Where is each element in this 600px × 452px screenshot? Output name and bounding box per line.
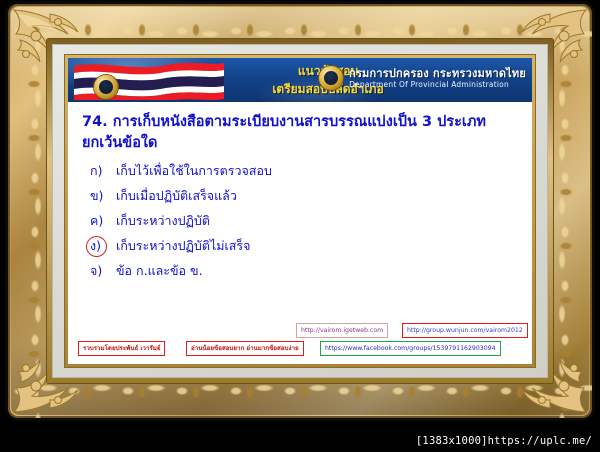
choice-key: จ) (82, 262, 116, 279)
org-name-english: Department Of Provincial Administration (349, 80, 526, 90)
website-link-box[interactable]: http://vairom.igetweb.com (296, 323, 388, 338)
choice-text: เก็บระหว่างปฏิบัติ (116, 212, 210, 229)
exam-slide: แนวข้อสอบ เตรียมสอบปลัดอำเภอ กรมการปกครอ… (68, 58, 532, 364)
choice-key: ค) (82, 212, 116, 229)
status-bar-text: [1383x1000]https://uplc.me/ (416, 435, 592, 447)
status-bar: [1383x1000]https://uplc.me/ (0, 430, 600, 452)
slide-banner: แนวข้อสอบ เตรียมสอบปลัดอำเภอ กรมการปกครอ… (68, 58, 532, 102)
group-link-box[interactable]: http://group.wunjun.com/vairom2012 (402, 323, 528, 338)
choice-key: ข) (82, 187, 116, 204)
choice-list: ก) เก็บไว้เพื่อใช้ในการตรวจสอบ ข) เก็บเม… (82, 162, 518, 279)
question-text: 74. การเก็บหนังสือตามระเบียบงานสารบรรณแบ… (82, 112, 518, 154)
choice-text: ข้อ ก.และข้อ ข. (116, 262, 203, 279)
choice-text: เก็บเมื่อปฏิบัติเสร็จแล้ว (116, 187, 237, 204)
facebook-link-box[interactable]: https://www.facebook.com/groups/15397911… (320, 341, 501, 356)
choice-item-cho[interactable]: จ) ข้อ ก.และข้อ ข. (82, 262, 518, 279)
choice-item-kho2[interactable]: ค) เก็บระหว่างปฏิบัติ (82, 212, 518, 229)
department-seal-icon (319, 66, 343, 90)
picture-frame: แนวข้อสอบ เตรียมสอบปลัดอำเภอ กรมการปกครอ… (8, 4, 592, 418)
choice-item-ka[interactable]: ก) เก็บไว้เพื่อใช้ในการตรวจสอบ (82, 162, 518, 179)
choice-key: ก) (82, 162, 116, 179)
choice-text: เก็บระหว่างปฏิบัติไม่เสร็จ (116, 237, 250, 254)
frame-ornament-left (22, 4, 48, 418)
question-body: 74. การเก็บหนังสือตามระเบียบงานสารบรรณแบ… (68, 102, 532, 279)
garuda-emblem (94, 75, 118, 99)
choice-key-circled: ง) (82, 237, 116, 254)
author-credit-box: รวบรวมโดยประพันธ์ เวารัมย์ (78, 341, 165, 356)
motto-box: อ่านน้อยข้อสอบยาก อ่านมากข้อสอบง่าย (186, 341, 304, 356)
banner-organization: กรมการปกครอง กระทรวงมหาดไทย Department O… (319, 66, 526, 90)
slide-footer: รวบรวมโดยประพันธ์ เวารัมย์ อ่านน้อยข้อสอ… (68, 320, 532, 364)
frame-ornament-right (552, 4, 578, 418)
choice-text: เก็บไว้เพื่อใช้ในการตรวจสอบ (116, 162, 272, 179)
screenshot-stage: แนวข้อสอบ เตรียมสอบปลัดอำเภอ กรมการปกครอ… (0, 0, 600, 452)
org-name-thai: กรมการปกครอง กระทรวงมหาดไทย (349, 67, 526, 80)
choice-item-kho[interactable]: ข) เก็บเมื่อปฏิบัติเสร็จแล้ว (82, 187, 518, 204)
choice-item-ngo-selected[interactable]: ง) เก็บระหว่างปฏิบัติไม่เสร็จ (82, 237, 518, 254)
